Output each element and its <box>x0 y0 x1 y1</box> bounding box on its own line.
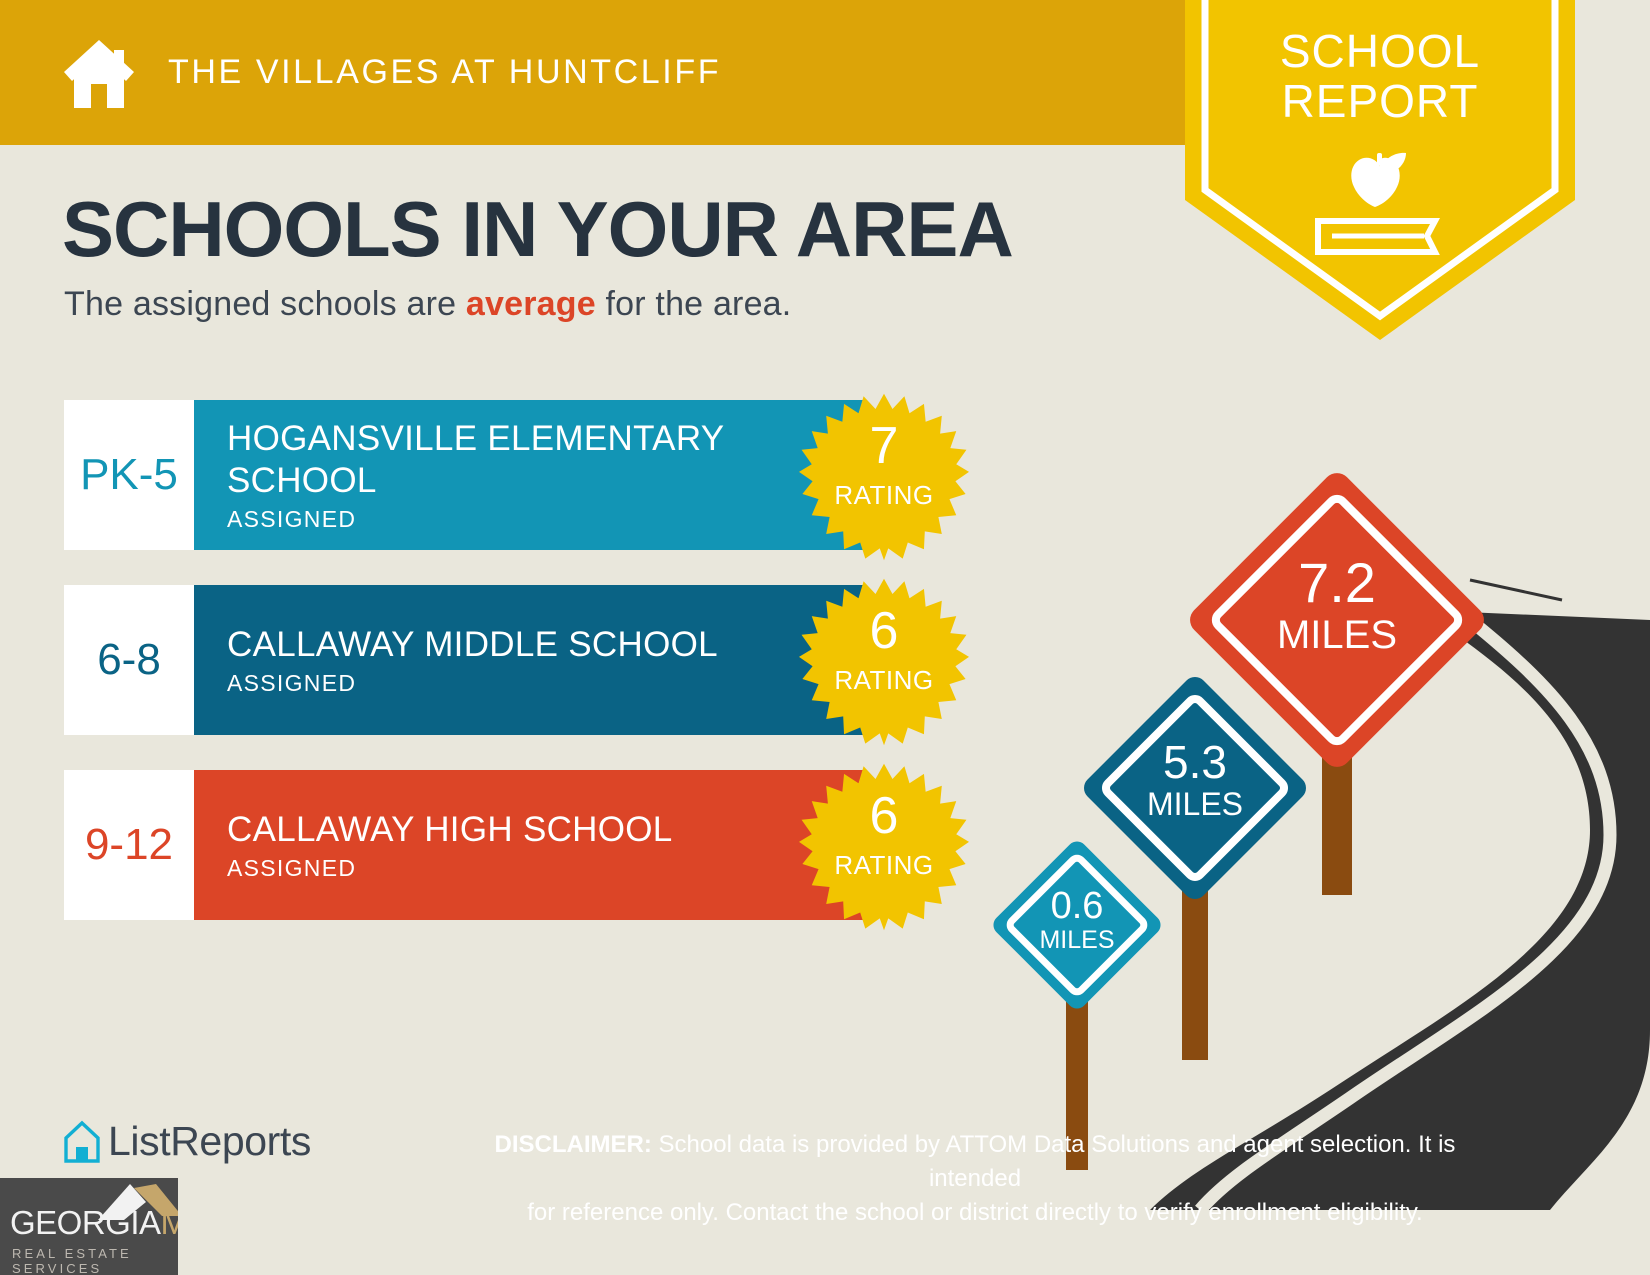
rating-value: 6 <box>799 790 969 842</box>
rating-value: 6 <box>799 605 969 657</box>
page-subtitle: The assigned schools are average for the… <box>64 285 791 324</box>
wire <box>1470 580 1562 600</box>
sign-unit: MILES <box>1277 613 1397 657</box>
rating-value: 7 <box>799 420 969 472</box>
header-bar: THE VILLAGES AT HUNTCLIFF <box>0 0 1185 145</box>
sign-value: 5.3 <box>1163 736 1227 788</box>
distance-sign-2: 5.3 MILES <box>1079 672 1311 1060</box>
school-bar: CALLAWAY MIDDLE SCHOOL ASSIGNED <box>194 585 864 735</box>
grade-badge: PK-5 <box>64 400 194 550</box>
grade-badge: 6-8 <box>64 585 194 735</box>
home-icon <box>62 36 136 110</box>
badge-shape <box>1185 0 1575 340</box>
school-status: ASSIGNED <box>227 506 864 533</box>
school-list: PK-5 HOGANSVILLE ELEMENTARY SCHOOL ASSIG… <box>64 400 864 955</box>
disclaimer-label: DISCLAIMER: <box>495 1131 652 1158</box>
header-title: THE VILLAGES AT HUNTCLIFF <box>168 53 721 92</box>
sign-value: 7.2 <box>1298 551 1376 614</box>
page-title: SCHOOLS IN YOUR AREA <box>62 190 1013 268</box>
road-scene: 7.2 MILES 5.3 MILES 0.6 MILES <box>950 470 1650 1170</box>
rating-burst: 6 RATING <box>799 577 969 747</box>
disclaimer-line-1: DISCLAIMER: School data is provided by A… <box>495 1131 1456 1192</box>
school-bar: HOGANSVILLE ELEMENTARY SCHOOL ASSIGNED <box>194 400 864 550</box>
rating-burst: 6 RATING <box>799 762 969 932</box>
disclaimer-text-1: School data is provided by ATTOM Data So… <box>652 1131 1456 1192</box>
rating-burst: 7 RATING <box>799 392 969 562</box>
rating-label: RATING <box>799 665 969 696</box>
listreports-wordmark: ListReports <box>108 1118 311 1165</box>
mls-georgia: GEORGIA <box>10 1204 161 1241</box>
school-name: CALLAWAY HIGH SCHOOL <box>227 809 864 851</box>
listreports-logo: ListReports <box>62 1118 311 1165</box>
subtitle-after: for the area. <box>596 285 792 323</box>
school-report-badge: SCHOOL REPORT <box>1185 0 1575 340</box>
disclaimer-line-2: for reference only. Contact the school o… <box>527 1199 1422 1226</box>
sign-value: 0.6 <box>1051 885 1104 927</box>
subtitle-emphasis: average <box>466 285 596 323</box>
grade-badge: 9-12 <box>64 770 194 920</box>
disclaimer: DISCLAIMER: School data is provided by A… <box>455 1128 1495 1230</box>
rating-label: RATING <box>799 850 969 881</box>
school-row[interactable]: 6-8 CALLAWAY MIDDLE SCHOOL ASSIGNED 6 RA… <box>64 585 864 735</box>
sign-unit: MILES <box>1147 786 1243 822</box>
school-status: ASSIGNED <box>227 670 864 697</box>
listreports-house-icon <box>62 1120 102 1164</box>
school-name: HOGANSVILLE ELEMENTARY SCHOOL <box>227 418 864 502</box>
sign-unit: MILES <box>1039 926 1114 954</box>
mls-tagline: REAL ESTATE SERVICES <box>12 1246 178 1275</box>
distance-illustration: 7.2 MILES 5.3 MILES 0.6 MILES <box>950 470 1650 1170</box>
georgia-mls-logo: GEORGIAMLS REAL ESTATE SERVICES <box>0 1178 178 1275</box>
distance-sign-1: 0.6 MILES <box>989 837 1164 1170</box>
school-status: ASSIGNED <box>227 855 864 882</box>
mls-wordmark: GEORGIAMLS <box>10 1204 178 1242</box>
rating-label: RATING <box>799 480 969 511</box>
school-bar: CALLAWAY HIGH SCHOOL ASSIGNED <box>194 770 864 920</box>
subtitle-before: The assigned schools are <box>64 285 466 323</box>
mls-mls: MLS <box>161 1204 178 1241</box>
school-row[interactable]: PK-5 HOGANSVILLE ELEMENTARY SCHOOL ASSIG… <box>64 400 864 550</box>
school-row[interactable]: 9-12 CALLAWAY HIGH SCHOOL ASSIGNED 6 RAT… <box>64 770 864 920</box>
school-name: CALLAWAY MIDDLE SCHOOL <box>227 624 864 666</box>
